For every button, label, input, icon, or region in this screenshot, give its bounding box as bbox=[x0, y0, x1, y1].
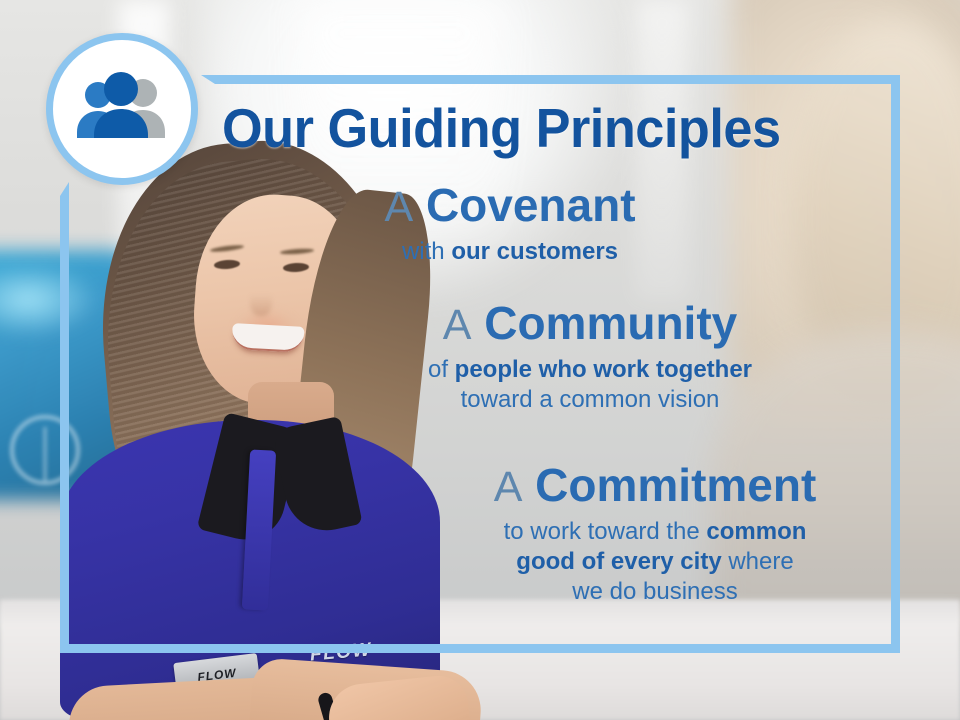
principle-headline: A Commitment bbox=[430, 462, 880, 510]
principle-keyword: Community bbox=[484, 297, 737, 349]
detail-bold: common bbox=[706, 518, 806, 545]
principle-detail: with our customers bbox=[330, 237, 690, 267]
detail-line: good of every city where bbox=[430, 547, 880, 577]
principle-block-community: A Community of people who work together … bbox=[380, 300, 800, 415]
detail-line: to work toward the common bbox=[430, 517, 880, 547]
principle-article: A bbox=[443, 301, 472, 349]
detail-bold: good of every city bbox=[516, 548, 721, 575]
principle-detail: of people who work together toward a com… bbox=[380, 355, 800, 415]
page-title: Our Guiding Principles bbox=[222, 96, 781, 160]
detail-bold: our customers bbox=[451, 238, 618, 265]
frame-left-line bbox=[60, 196, 69, 653]
detail-regular-before: to work toward the bbox=[504, 518, 707, 545]
frame-right-line bbox=[891, 75, 900, 653]
detail-bold: people who work together bbox=[455, 356, 752, 383]
principle-keyword: Commitment bbox=[535, 459, 816, 511]
detail-regular-before: of bbox=[428, 356, 455, 383]
detail-line: we do business bbox=[430, 577, 880, 607]
detail-line: toward a common vision bbox=[380, 385, 800, 415]
frame-bottom-line bbox=[60, 644, 900, 653]
detail-regular-before: toward a common vision bbox=[461, 386, 720, 413]
principle-detail: to work toward the common good of every … bbox=[430, 517, 880, 608]
people-group-icon bbox=[70, 72, 174, 146]
principle-headline: A Covenant bbox=[330, 182, 690, 230]
detail-regular-after: where bbox=[722, 548, 794, 575]
guiding-principles-banner: FLOW FLOW Our Guiding Principles bbox=[0, 0, 960, 720]
detail-regular-before: we do business bbox=[572, 578, 737, 605]
principle-block-covenant: A Covenant with our customers bbox=[330, 182, 690, 267]
principle-article: A bbox=[494, 463, 523, 511]
frame-top-line bbox=[215, 75, 900, 84]
principle-article: A bbox=[384, 183, 413, 231]
people-group-icon-badge bbox=[46, 33, 198, 185]
detail-line: of people who work together bbox=[380, 355, 800, 385]
principle-block-commitment: A Commitment to work toward the common g… bbox=[430, 462, 880, 608]
principle-keyword: Covenant bbox=[426, 179, 636, 231]
detail-line: with our customers bbox=[330, 237, 690, 267]
principle-headline: A Community bbox=[380, 300, 800, 348]
detail-regular-before: with bbox=[402, 238, 451, 265]
